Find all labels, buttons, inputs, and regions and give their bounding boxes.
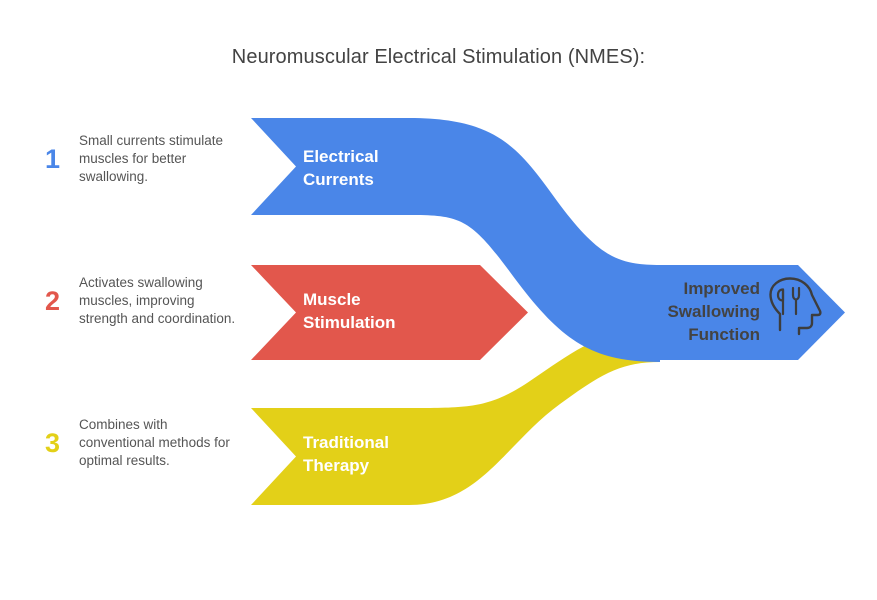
step-item-3: 3 Combines with conventional methods for… [45,416,245,470]
band-label-muscle: Muscle Stimulation [303,288,396,334]
step-number-2: 2 [45,288,79,315]
step-number-1: 1 [45,146,79,173]
infographic-canvas: Neuromuscular Electrical Stimulation (NM… [0,0,877,600]
step-description-3: Combines with conventional methods for o… [79,416,245,470]
step-description-2: Activates swallowing muscles, improving … [79,274,245,328]
band-label-electrical: Electrical Currents [303,145,379,191]
step-description-1: Small currents stimulate muscles for bet… [79,132,245,186]
step-number-3: 3 [45,430,79,457]
step-item-1: 1 Small currents stimulate muscles for b… [45,132,245,186]
band-label-traditional: Traditional Therapy [303,431,389,477]
step-item-2: 2 Activates swallowing muscles, improvin… [45,274,245,328]
outcome-label: Improved Swallowing Function [620,277,760,346]
